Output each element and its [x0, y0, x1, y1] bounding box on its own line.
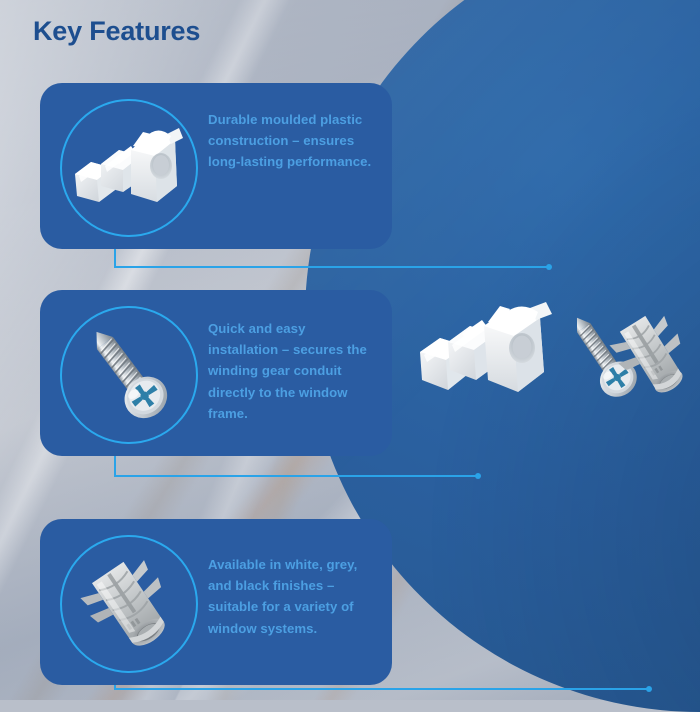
- feature-text: Quick and easy installation – secures th…: [208, 318, 378, 424]
- feature-card-durability[interactable]: Durable moulded plastic construction – e…: [40, 83, 392, 249]
- page-title: Key Features: [33, 16, 200, 47]
- pipe-clip-with-screw-and-wall-plug-art: [418, 300, 690, 435]
- feature-medallion: [60, 306, 198, 444]
- feature-medallion: [60, 535, 198, 673]
- feature-card-finishes[interactable]: Available in white, grey, and black fini…: [40, 519, 392, 685]
- screw-icon: [73, 319, 185, 431]
- feature-text: Durable moulded plastic construction – e…: [208, 109, 378, 173]
- plastic-pipe-clip-icon: [71, 116, 187, 220]
- pipe-clip-part: [420, 302, 552, 392]
- feature-medallion: [60, 99, 198, 237]
- wall-plug-anchor-icon: [70, 552, 188, 656]
- screw-part: [561, 307, 643, 404]
- feature-text: Available in white, grey, and black fini…: [208, 554, 378, 639]
- feature-card-installation[interactable]: Quick and easy installation – secures th…: [40, 290, 392, 456]
- product-image: [418, 300, 690, 435]
